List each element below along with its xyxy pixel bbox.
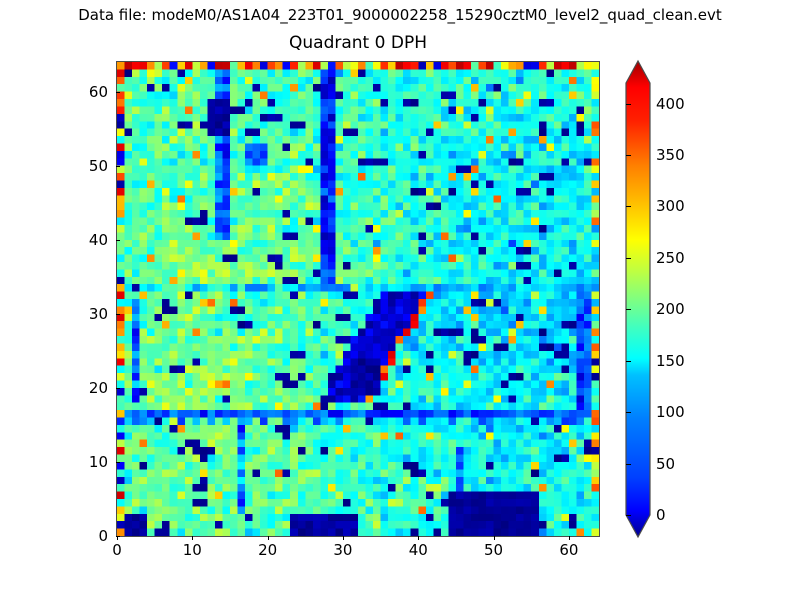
colorbar-tick-label: 50 [656,456,675,473]
colorbar-tick-label: 0 [656,507,666,524]
heatmap-image[interactable] [117,62,599,536]
y-tick-mark [116,92,120,93]
colorbar-tick-mark [626,206,631,207]
x-tick-label: 10 [162,542,222,559]
page-title: Quadrant 0 DPH [116,33,600,54]
colorbar[interactable] [626,61,650,537]
y-tick-mark [116,536,120,537]
colorbar-tick-mark [626,258,631,259]
x-tick-label: 50 [464,542,524,559]
y-tick-label: 30 [48,306,108,323]
colorbar-tick-mark [626,155,631,156]
y-tick-mark [116,314,120,315]
colorbar-tick-mark [626,412,631,413]
y-tick-mark [116,240,120,241]
x-tick-mark [569,536,570,540]
x-tick-mark [494,536,495,540]
colorbar-tick-mark [626,515,631,516]
y-tick-label: 0 [48,528,108,545]
y-tick-label: 40 [48,232,108,249]
colorbar-tick-label: 150 [656,353,685,370]
colorbar-tick-label: 200 [656,301,685,318]
heatmap-plot-area[interactable] [116,61,600,537]
x-tick-label: 20 [238,542,298,559]
y-tick-label: 20 [48,380,108,397]
x-tick-label: 30 [313,542,373,559]
colorbar-tick-label: 300 [656,198,685,215]
colorbar-tick-mark [626,309,631,310]
colorbar-tick-label: 250 [656,250,685,267]
y-tick-mark [116,462,120,463]
x-tick-mark [418,536,419,540]
figure-canvas: Data file: modeM0/AS1A04_223T01_90000022… [0,0,800,600]
colorbar-tick-label: 350 [656,147,685,164]
y-tick-mark [116,388,120,389]
y-tick-label: 10 [48,454,108,471]
data-file-suptitle: Data file: modeM0/AS1A04_223T01_90000022… [0,6,800,25]
colorbar-tick-mark [626,104,631,105]
colorbar-tick-mark [626,464,631,465]
x-tick-label: 60 [539,542,599,559]
colorbar-tick-label: 100 [656,404,685,421]
y-tick-label: 50 [48,158,108,175]
x-tick-label: 40 [388,542,448,559]
y-tick-label: 60 [48,84,108,101]
colorbar-tick-mark [626,361,631,362]
colorbar-gradient [626,61,650,537]
x-tick-mark [192,536,193,540]
x-tick-mark [343,536,344,540]
colorbar-tick-label: 400 [656,96,685,113]
x-tick-mark [268,536,269,540]
y-tick-mark [116,166,120,167]
